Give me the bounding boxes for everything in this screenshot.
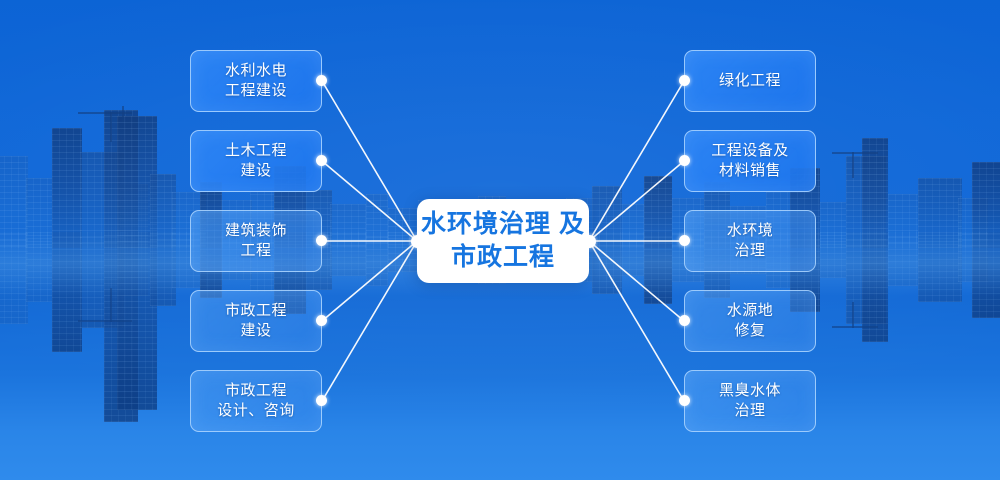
hub-dot-left [411,235,424,248]
left-node-3-line2: 工程 [225,241,287,261]
left-node-4-line1: 市政工程 [225,301,287,321]
right-node-5-line1: 黑臭水体 [719,381,781,401]
connector-dot-right-1 [679,75,690,86]
left-node-4[interactable]: 市政工程 建设 [190,290,322,352]
connector-dot-right-5 [679,395,690,406]
left-node-2[interactable]: 土木工程 建设 [190,130,322,192]
left-node-3-line1: 建筑装饰 [225,221,287,241]
left-node-1-line1: 水利水电 [225,61,287,81]
connector-dot-left-2 [316,155,327,166]
center-node-line1: 水环境治理 [421,210,551,238]
connector-dot-left-1 [316,75,327,86]
right-node-4[interactable]: 水源地 修复 [684,290,816,352]
right-node-1-line1: 绿化工程 [719,71,781,91]
left-node-5-line2: 设计、咨询 [217,401,295,421]
left-node-1[interactable]: 水利水电 工程建设 [190,50,322,112]
right-node-5[interactable]: 黑臭水体 治理 [684,370,816,432]
link-right-1 [589,81,684,241]
link-left-1 [322,81,417,241]
right-node-3-line2: 治理 [727,241,774,261]
connector-dot-right-3 [679,235,690,246]
hub-dot-right [583,235,596,248]
connector-dot-right-2 [679,155,690,166]
connector-dot-left-5 [316,395,327,406]
right-node-2-line1: 工程设备及 [711,141,789,161]
right-node-4-line2: 修复 [727,321,774,341]
link-right-4 [589,241,684,321]
left-node-4-line2: 建设 [225,321,287,341]
left-node-5-line1: 市政工程 [217,381,295,401]
left-node-2-line1: 土木工程 [225,141,287,161]
link-left-5 [322,241,417,401]
left-node-3[interactable]: 建筑装饰 工程 [190,210,322,272]
left-node-1-line2: 工程建设 [225,81,287,101]
right-node-3[interactable]: 水环境 治理 [684,210,816,272]
right-node-2-line2: 材料销售 [711,161,789,181]
left-node-2-line2: 建设 [225,161,287,181]
right-node-4-line1: 水源地 [727,301,774,321]
connector-dot-left-3 [316,235,327,246]
link-left-4 [322,241,417,321]
right-node-2[interactable]: 工程设备及 材料销售 [684,130,816,192]
center-node[interactable]: 水环境治理 及市政工程 [417,199,589,283]
left-node-5[interactable]: 市政工程 设计、咨询 [190,370,322,432]
link-right-5 [589,241,684,401]
connector-dot-left-4 [316,315,327,326]
connector-dot-right-4 [679,315,690,326]
link-left-2 [322,161,417,241]
right-node-1[interactable]: 绿化工程 [684,50,816,112]
right-node-3-line1: 水环境 [727,221,774,241]
link-right-2 [589,161,684,241]
diagram-canvas: 水利水电 工程建设 土木工程 建设 建筑装饰 工程 市政工程 建设 市政工程 设… [0,0,1000,480]
right-node-5-line2: 治理 [719,401,781,421]
